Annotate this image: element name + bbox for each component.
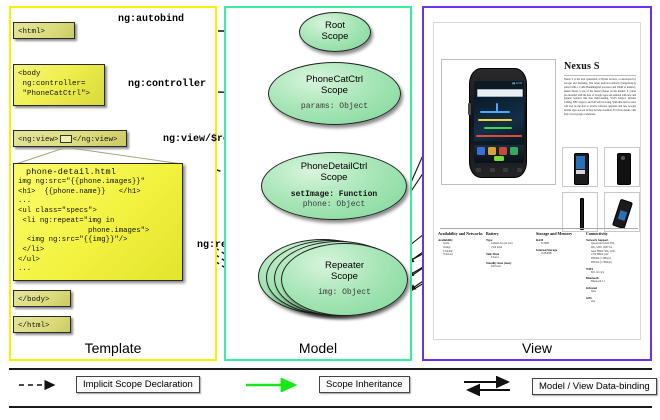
scope-phonedetailctrl: PhoneDetailCtrl Scope setImage: Function…: [261, 152, 407, 220]
legend-top-rule: [9, 368, 652, 370]
thumbnail-angled[interactable]: [604, 192, 640, 232]
spec-value: 6 hours: [491, 256, 534, 260]
scope-phonedetailctrl-title-line2: Scope: [321, 173, 348, 184]
legend-label-implicit-scope-declaration: Implicit Scope Declaration: [76, 376, 200, 393]
spec-column-storage: Storage and Memory RAM 512MB Internal St…: [536, 231, 584, 256]
scope-root-title-line2: Scope: [322, 32, 349, 43]
phone-side-button-icon: [468, 103, 471, 115]
phone-hero-image-frame: ▮▮ 12:00: [441, 59, 556, 185]
spec-value: HSUPA (5.76Mbps): [591, 261, 640, 265]
scope-repeater: Repeater Scope img: Object: [281, 243, 408, 316]
spec-header-storage: Storage and Memory: [536, 231, 584, 236]
legend-green-arrow-icon: [245, 378, 307, 392]
scope-phonecatctrl-prop-params: params: Object: [301, 102, 368, 112]
legend-label-model-view-data-binding: Model / View Data-binding: [532, 378, 657, 395]
spec-value: true: [591, 300, 640, 304]
specs-table: Availability and Networks Availability S…: [438, 231, 638, 327]
phone-wallpaper: [474, 97, 524, 141]
spec-header-availability: Availability and Networks: [438, 231, 486, 236]
specs-divider: [440, 228, 638, 229]
legend-scope-inheritance: Scope Inheritance: [245, 376, 410, 393]
legend-implicit-scope-declaration: Implicit Scope Declaration: [18, 376, 200, 393]
spec-column-connectivity: Connectivity Network Support Quad-band G…: [586, 231, 640, 304]
connector-label-ng-controller: ng:controller: [128, 79, 206, 90]
spec-value: false: [591, 290, 640, 294]
spec-header-connectivity: Connectivity: [586, 231, 640, 236]
legend-double-arrow-icon: [462, 376, 520, 396]
phone-device-illustration: ▮▮ 12:00: [469, 68, 527, 178]
panel-label-view: View: [424, 340, 650, 356]
spec-value: 802.11 b/g/n: [591, 271, 640, 275]
legend-dashed-arrow-icon: [18, 378, 64, 392]
tooltip-code: img ng:src="{{phone.images}}" <h1> {{pho…: [14, 178, 182, 275]
spec-value: 1500 mAh: [491, 246, 534, 250]
phone-screen: ▮▮ 12:00: [474, 81, 524, 163]
scope-phonedetailctrl-prop-setimage: setImage: Function: [291, 190, 377, 200]
scope-phonecatctrl-title-line1: PhoneCatCtrl: [306, 75, 363, 86]
spec-value: 512MB: [541, 242, 584, 246]
scope-repeater-title-line1: Repeater: [325, 261, 364, 272]
scope-repeater-prop-img: img: Object: [318, 288, 371, 298]
phone-status-bar-icon: ▮▮ 12:00: [512, 82, 522, 85]
scope-phonedetailctrl-prop-phone: phone: Object: [303, 200, 365, 210]
spec-value: Vodafone: [443, 253, 486, 257]
spec-column-battery: Battery Type Lithium Ion (Li-Ion) 1500 m…: [486, 231, 534, 269]
thumbnail-side-profile[interactable]: [562, 192, 598, 232]
tooltip-filename: phone-detail.html: [14, 164, 182, 178]
spec-value: 428 hours: [491, 265, 534, 269]
thumbnail-front-screen[interactable]: [562, 147, 598, 187]
spec-column-availability: Availability and Networks Availability S…: [438, 231, 486, 257]
legend-label-scope-inheritance: Scope Inheritance: [319, 376, 410, 393]
phone-search-widget-icon: [477, 89, 523, 97]
product-title: Nexus S: [564, 61, 600, 72]
template-partial-tooltip: phone-detail.html img ng:src="{{phone.im…: [13, 163, 183, 281]
product-title-rule: [564, 75, 636, 76]
scope-phonecatctrl: PhoneCatCtrl Scope params: Object: [268, 62, 401, 125]
legend-bottom-rule: [9, 406, 652, 408]
legend-model-view-data-binding: Model / View Data-binding: [462, 376, 657, 396]
product-description: Nexus S is the next generation of Nexus …: [564, 78, 636, 140]
scope-phonecatctrl-title-line2: Scope: [321, 86, 348, 97]
spec-header-battery: Battery: [486, 231, 534, 236]
scope-root: Root Scope: [299, 12, 371, 52]
rendered-view-page: ▮▮ 12:00: [433, 22, 641, 340]
spec-value: 16384MB: [541, 252, 584, 256]
diagram-root: Template <html> <body ng:controller= "Ph…: [0, 0, 660, 420]
scope-repeater-title-line2: Scope: [331, 272, 358, 283]
panel-label-model: Model: [226, 340, 410, 356]
spec-value: Bluetooth 2.1: [591, 280, 640, 284]
thumbnail-back[interactable]: [604, 147, 640, 187]
phone-nav-buttons: [476, 167, 522, 173]
phone-app-dock: [474, 145, 524, 163]
connector-label-ng-autobind: ng:autobind: [118, 14, 184, 25]
